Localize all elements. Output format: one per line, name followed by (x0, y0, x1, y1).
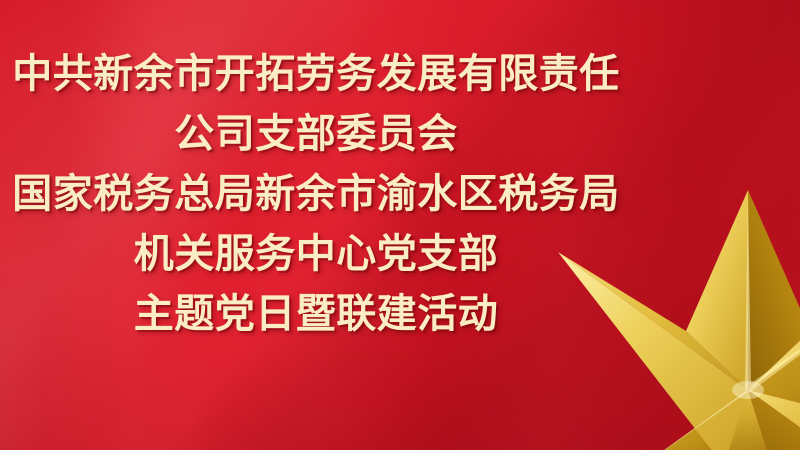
headline-line-1: 中共新余市开拓劳务发展有限责任 (0, 44, 632, 104)
headline-text-block: 中共新余市开拓劳务发展有限责任 公司支部委员会 国家税务总局新余市渝水区税务局 … (0, 44, 632, 344)
headline-line-4: 机关服务中心党支部 (0, 224, 632, 284)
headline-line-3: 国家税务总局新余市渝水区税务局 (0, 164, 632, 224)
party-event-banner: 中共新余市开拓劳务发展有限责任 公司支部委员会 国家税务总局新余市渝水区税务局 … (0, 0, 800, 450)
headline-line-5: 主题党日暨联建活动 (0, 284, 632, 344)
headline-line-2: 公司支部委员会 (0, 104, 632, 164)
